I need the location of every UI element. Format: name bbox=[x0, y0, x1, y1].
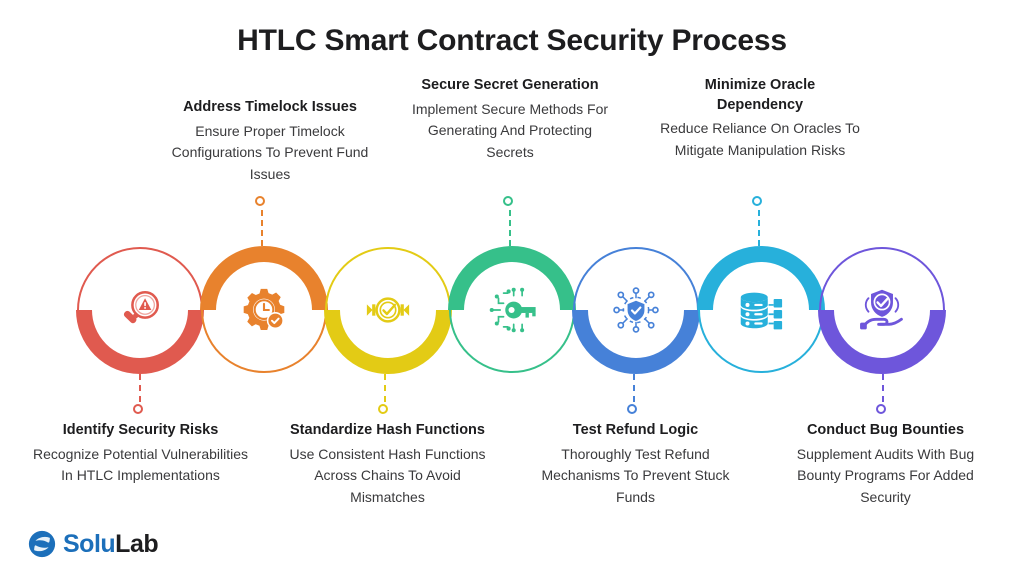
connector-step-1 bbox=[133, 374, 147, 418]
connector-dot-7 bbox=[876, 404, 886, 414]
gear-clock-check-icon bbox=[233, 279, 295, 341]
connector-dot-2 bbox=[255, 196, 265, 206]
connector-dash-2 bbox=[261, 210, 263, 246]
solulab-wordmark: SoluLab bbox=[63, 532, 158, 557]
connector-step-4 bbox=[503, 196, 517, 246]
connector-dot-6 bbox=[752, 196, 762, 206]
connector-step-2 bbox=[255, 196, 269, 246]
step-heading-1: Identify Security Risks bbox=[28, 421, 253, 441]
step-description-3: Use Consistent Hash Functions Across Cha… bbox=[285, 444, 490, 509]
step-description-2: Ensure Proper Timelock Configurations To… bbox=[150, 121, 390, 186]
connector-dash-6 bbox=[758, 210, 760, 246]
page-title: HTLC Smart Contract Security Process bbox=[0, 24, 1024, 58]
connector-step-7 bbox=[876, 374, 890, 418]
connector-step-6 bbox=[752, 196, 766, 246]
step-text-3: Standardize Hash Functions Use Consisten… bbox=[285, 421, 490, 509]
step-text-7: Conduct Bug Bounties Supplement Audits W… bbox=[778, 421, 993, 509]
step-description-1: Recognize Potential Vulnerabilities In H… bbox=[28, 444, 253, 487]
step-heading-4: Secure Secret Generation bbox=[410, 76, 610, 96]
connector-dash-7 bbox=[882, 374, 884, 402]
step-text-4: Secure Secret Generation Implement Secur… bbox=[410, 76, 610, 164]
step-node-5[interactable] bbox=[573, 247, 699, 373]
connector-dot-3 bbox=[378, 404, 388, 414]
step-description-4: Implement Secure Methods For Generating … bbox=[410, 99, 610, 164]
infographic-canvas: HTLC Smart Contract Security Process Add… bbox=[0, 0, 1024, 576]
connector-step-5 bbox=[627, 374, 641, 418]
step-node-1[interactable] bbox=[77, 247, 203, 373]
connector-dot-1 bbox=[133, 404, 143, 414]
logo-text-lab: Lab bbox=[115, 530, 158, 558]
connector-dot-4 bbox=[503, 196, 513, 206]
hash-check-icon bbox=[357, 279, 419, 341]
step-heading-2: Address Timelock Issues bbox=[150, 98, 390, 118]
step-node-2[interactable] bbox=[201, 247, 327, 373]
connector-dot-5 bbox=[627, 404, 637, 414]
solulab-logo-mark bbox=[28, 530, 56, 558]
step-heading-3: Standardize Hash Functions bbox=[285, 421, 490, 441]
connector-dash-1 bbox=[139, 374, 141, 402]
magnifier-warning-icon bbox=[109, 279, 171, 341]
logo-text-solu: Solu bbox=[63, 530, 115, 558]
step-node-6[interactable] bbox=[698, 247, 824, 373]
step-heading-5: Test Refund Logic bbox=[533, 421, 738, 441]
hand-shield-check-icon bbox=[851, 279, 913, 341]
circuit-key-icon bbox=[481, 279, 543, 341]
step-text-2: Address Timelock Issues Ensure Proper Ti… bbox=[150, 98, 390, 186]
connector-dash-4 bbox=[509, 210, 511, 246]
connector-dash-5 bbox=[633, 374, 635, 402]
database-network-icon bbox=[730, 279, 792, 341]
step-description-5: Thoroughly Test Refund Mechanisms To Pre… bbox=[533, 444, 738, 509]
step-heading-7: Conduct Bug Bounties bbox=[778, 421, 993, 441]
connector-dash-3 bbox=[384, 374, 386, 402]
step-text-1: Identify Security Risks Recognize Potent… bbox=[28, 421, 253, 487]
connector-step-3 bbox=[378, 374, 392, 418]
step-text-5: Test Refund Logic Thoroughly Test Refund… bbox=[533, 421, 738, 509]
step-node-3[interactable] bbox=[325, 247, 451, 373]
step-description-7: Supplement Audits With Bug Bounty Progra… bbox=[778, 444, 993, 509]
solulab-logo[interactable]: SoluLab bbox=[28, 530, 158, 558]
step-description-6: Reduce Reliance On Oracles To Mitigate M… bbox=[660, 118, 860, 161]
step-node-7[interactable] bbox=[819, 247, 945, 373]
step-node-4[interactable] bbox=[449, 247, 575, 373]
network-shield-check-icon bbox=[605, 279, 667, 341]
step-text-6: Minimize Oracle Dependency Reduce Relian… bbox=[660, 76, 860, 162]
step-heading-6: Minimize Oracle Dependency bbox=[660, 76, 860, 115]
